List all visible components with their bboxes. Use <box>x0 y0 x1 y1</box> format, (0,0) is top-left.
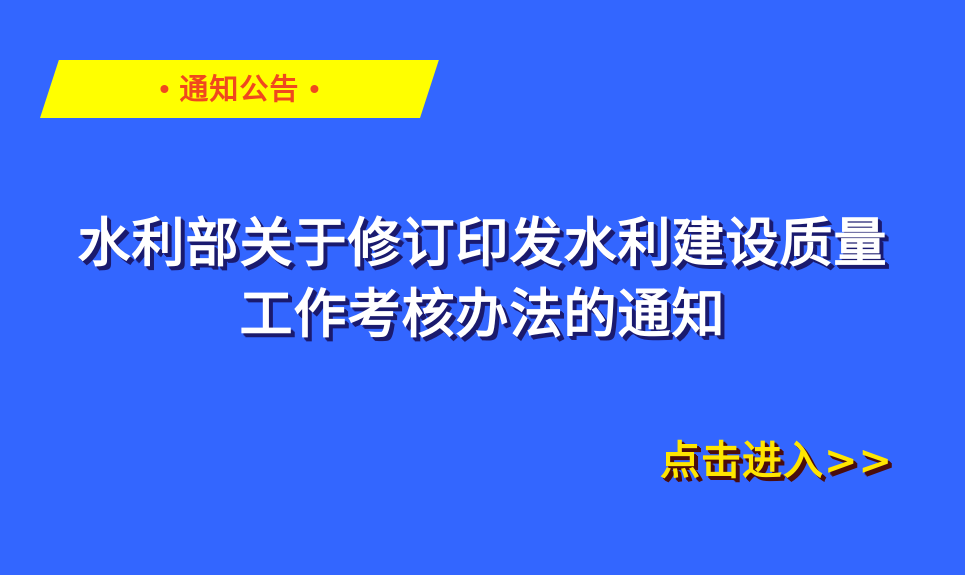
dot-separator-left-icon <box>160 85 168 93</box>
enter-link[interactable]: 点击进入>> <box>660 436 893 486</box>
page-title: 水利部关于修订印发水利建设质量 工作考核办法的通知 <box>0 208 965 350</box>
notice-banner-label: 通知公告 <box>179 75 299 104</box>
page-title-line-2: 工作考核办法的通知 <box>0 279 965 350</box>
notice-banner-content: 通知公告 <box>49 60 429 118</box>
notice-banner: 通知公告 <box>40 60 439 118</box>
dot-separator-right-icon <box>310 85 318 93</box>
page-title-line-1: 水利部关于修订印发水利建设质量 <box>0 208 965 279</box>
announcement-poster: 通知公告 水利部关于修订印发水利建设质量 工作考核办法的通知 点击进入>> <box>0 0 965 575</box>
